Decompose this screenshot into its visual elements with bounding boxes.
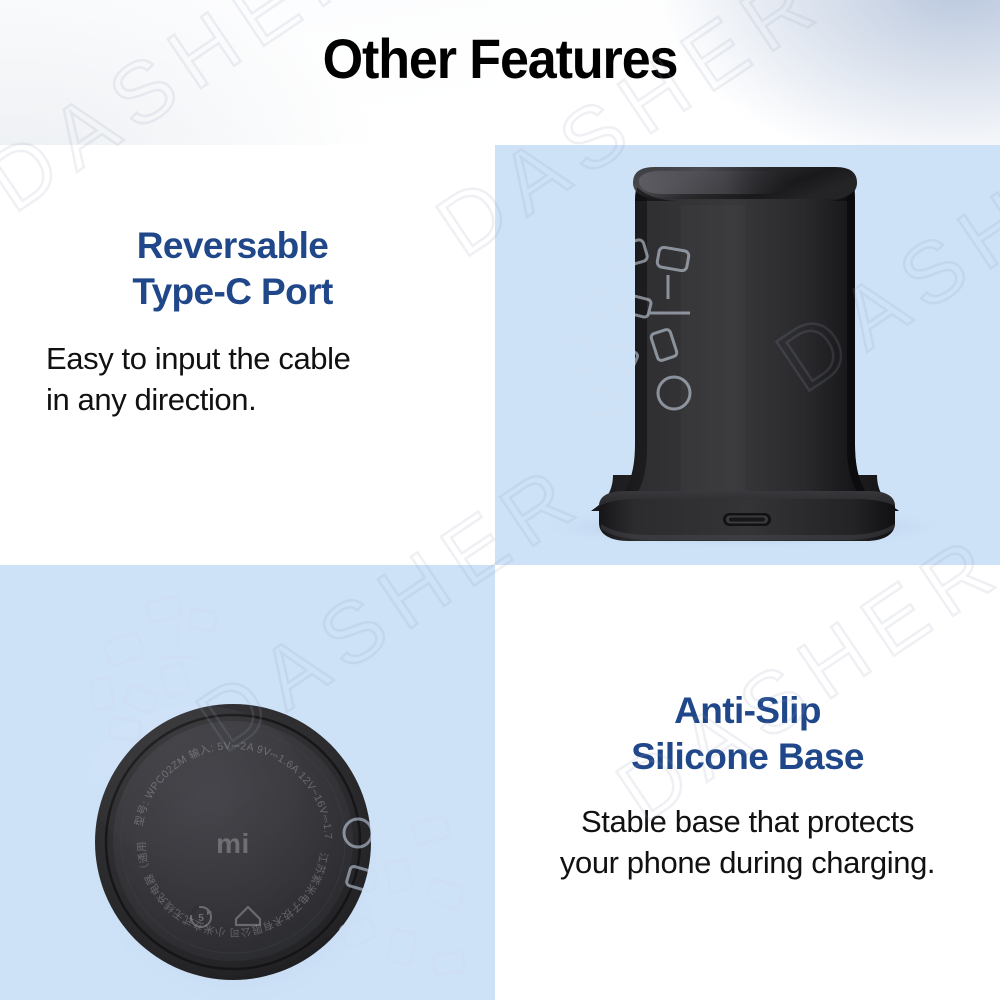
feature-panel-type-c-text: Reversable Type-C Port Easy to input the…: [0, 145, 495, 565]
feature-body-line1: Easy to input the cable: [46, 338, 473, 379]
svg-text:5: 5: [198, 913, 204, 924]
feature-heading-line1: Anti-Slip: [507, 688, 988, 734]
feature-body-line1: Stable base that protects: [507, 801, 988, 842]
feature-heading-line2: Silicone Base: [507, 734, 988, 780]
feature-panel-silicone-text: Anti-Slip Silicone Base Stable base that…: [495, 565, 1000, 1000]
wireless-charging-stand-image: [495, 145, 1000, 565]
feature-body-line2: your phone during charging.: [507, 842, 988, 883]
svg-text:mi: mi: [216, 828, 250, 859]
base-illustration: 型号: WPC02ZM 输入: 5V⎓2A 9V⎓1.6A 12V~16V⎓1.…: [0, 565, 495, 1000]
usb-c-port: [723, 513, 771, 526]
feature-body: Stable base that protects your phone dur…: [507, 801, 988, 883]
feature-image-panel-base: 型号: WPC02ZM 输入: 5V⎓2A 9V⎓1.6A 12V~16V⎓1.…: [0, 565, 495, 1000]
header-band: Other Features: [0, 0, 1000, 145]
feature-image-panel-stand: [495, 145, 1000, 565]
feature-heading-line2: Type-C Port: [10, 269, 455, 315]
page-title: Other Features: [35, 26, 965, 91]
silicone-base-underside-image: 型号: WPC02ZM 输入: 5V⎓2A 9V⎓1.6A 12V~16V⎓1.…: [0, 565, 495, 1000]
feature-heading-line1: Reversable: [10, 223, 455, 269]
feature-body-line2: in any direction.: [46, 379, 473, 420]
feature-heading: Reversable Type-C Port: [10, 223, 473, 314]
infographic-page: Other Features Reversable Type-C Port Ea…: [0, 0, 1000, 1000]
mi-logo: mi: [216, 828, 250, 859]
stand-illustration: [495, 145, 1000, 565]
stand-gloss-highlight: [639, 171, 796, 194]
feature-body: Easy to input the cable in any direction…: [10, 338, 473, 420]
feature-text-block: Reversable Type-C Port Easy to input the…: [0, 223, 495, 420]
feature-text-block: Anti-Slip Silicone Base Stable base that…: [495, 688, 1000, 883]
feature-heading: Anti-Slip Silicone Base: [507, 688, 988, 779]
